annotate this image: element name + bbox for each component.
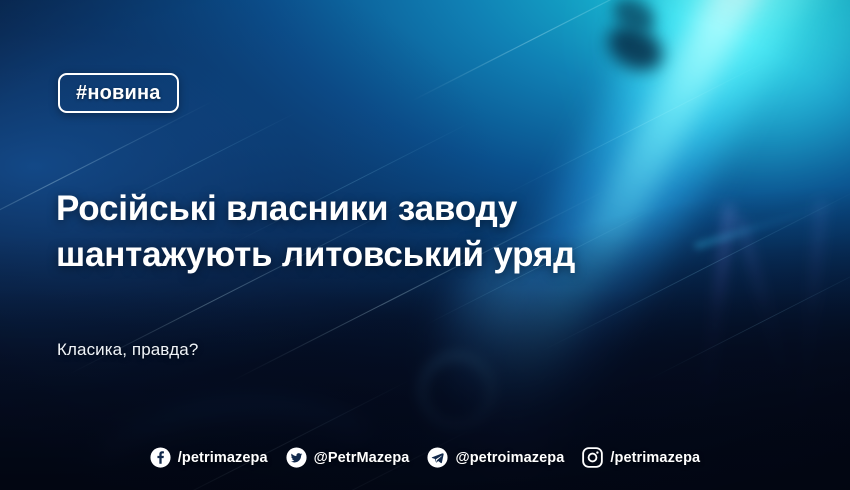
telegram-icon [427, 447, 448, 468]
social-link-twitter[interactable]: @PetrMazepa [286, 447, 410, 468]
headline-line-2: шантажують литовський уряд [56, 232, 576, 278]
news-card: #новина Російські власники заводу шантаж… [0, 0, 850, 490]
instagram-icon [582, 447, 603, 468]
social-handle-facebook: /petrimazepa [178, 450, 268, 466]
social-handle-telegram: @petroimazepa [455, 450, 564, 466]
facebook-icon [150, 447, 171, 468]
subtitle: Класика, правда? [57, 340, 198, 360]
social-handle-instagram: /petrimazepa [610, 450, 700, 466]
twitter-icon [286, 447, 307, 468]
hashtag-badge[interactable]: #новина [58, 73, 179, 113]
social-link-facebook[interactable]: /petrimazepa [150, 447, 268, 468]
page-title: Російські власники заводу шантажують лит… [56, 186, 576, 277]
card-content: #новина Російські власники заводу шантаж… [0, 0, 850, 490]
social-links-bar: /petrimazepa @PetrMazepa @petroimazepa [0, 447, 850, 468]
social-link-telegram[interactable]: @petroimazepa [427, 447, 564, 468]
social-handle-twitter: @PetrMazepa [314, 450, 410, 466]
headline-line-1: Російські власники заводу [56, 186, 576, 232]
social-link-instagram[interactable]: /petrimazepa [582, 447, 700, 468]
